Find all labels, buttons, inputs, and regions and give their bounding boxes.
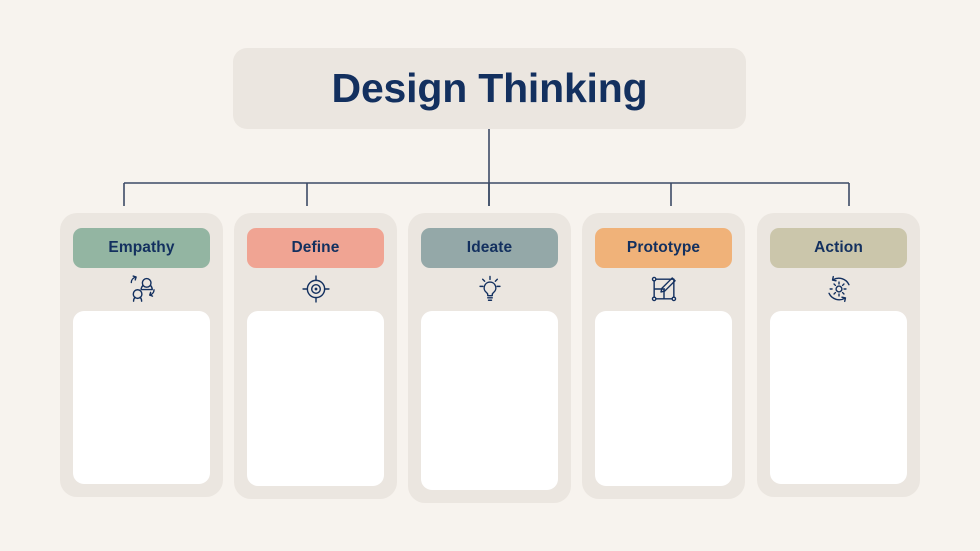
target-crosshair-icon <box>247 270 384 308</box>
lightbulb-icon <box>421 270 558 308</box>
stage-notes-area-action[interactable] <box>770 311 907 484</box>
stage-header-action[interactable]: Action <box>770 228 907 268</box>
stage-cards-row: EmpathyDefineIdeatePrototypeAction <box>0 213 980 513</box>
stage-label-action: Action <box>814 240 863 256</box>
stage-header-prototype[interactable]: Prototype <box>595 228 732 268</box>
stage-label-define: Define <box>292 240 340 256</box>
stage-header-empathy[interactable]: Empathy <box>73 228 210 268</box>
page-title: Design Thinking <box>332 68 648 109</box>
stage-card-empathy[interactable]: Empathy <box>60 213 223 497</box>
stage-header-define[interactable]: Define <box>247 228 384 268</box>
stage-label-empathy: Empathy <box>108 240 174 256</box>
stage-notes-area-empathy[interactable] <box>73 311 210 484</box>
connector-lines <box>0 120 980 220</box>
slide-title-box: Design Thinking <box>233 48 746 129</box>
stage-card-ideate[interactable]: Ideate <box>408 213 571 503</box>
stage-header-ideate[interactable]: Ideate <box>421 228 558 268</box>
design-thinking-slide: Design Thinking EmpathyDefineIdeateProto… <box>0 0 980 551</box>
stage-card-prototype[interactable]: Prototype <box>582 213 745 499</box>
blueprint-pencil-icon <box>595 270 732 308</box>
stage-notes-area-define[interactable] <box>247 311 384 486</box>
stage-label-ideate: Ideate <box>467 240 512 256</box>
gear-arrows-icon <box>770 270 907 308</box>
stage-notes-area-prototype[interactable] <box>595 311 732 486</box>
stage-label-prototype: Prototype <box>627 240 700 256</box>
stage-notes-area-ideate[interactable] <box>421 311 558 490</box>
stage-card-define[interactable]: Define <box>234 213 397 499</box>
stage-card-action[interactable]: Action <box>757 213 920 497</box>
users-arrows-icon <box>73 270 210 308</box>
